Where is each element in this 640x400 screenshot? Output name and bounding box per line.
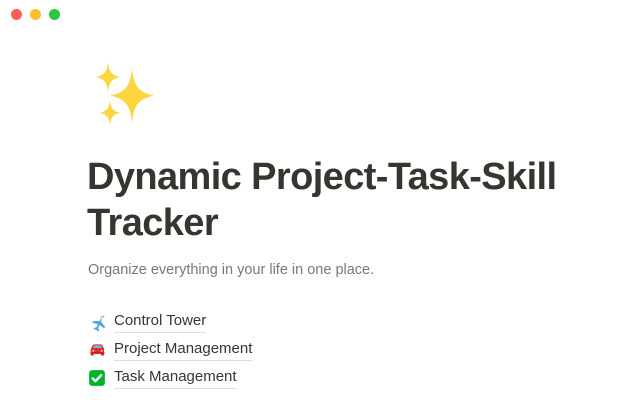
page-link-list: Control Tower Project Management	[88, 312, 508, 396]
list-item[interactable]: Project Management	[88, 340, 508, 360]
page-title: Dynamic Project-Task-Skill Tracker	[87, 154, 557, 246]
list-item[interactable]: Task Management	[88, 368, 508, 388]
airplane-icon	[88, 313, 109, 331]
car-icon	[88, 341, 109, 359]
close-window-button[interactable]	[11, 9, 22, 20]
window-titlebar	[0, 0, 640, 28]
list-item[interactable]: Control Tower	[88, 312, 508, 332]
page-content: Dynamic Project-Task-Skill Tracker Organ…	[0, 28, 640, 400]
maximize-window-button[interactable]	[49, 9, 60, 20]
sparkles-icon[interactable]	[86, 54, 162, 130]
list-item-link[interactable]: Project Management	[114, 339, 252, 361]
traffic-lights	[11, 9, 60, 20]
list-item-link[interactable]: Control Tower	[114, 311, 206, 333]
check-mark-button-icon	[88, 369, 109, 387]
list-item-link[interactable]: Task Management	[114, 367, 237, 389]
browser-window: Dynamic Project-Task-Skill Tracker Organ…	[0, 0, 640, 400]
page-subtitle: Organize everything in your life in one …	[88, 260, 374, 280]
minimize-window-button[interactable]	[30, 9, 41, 20]
